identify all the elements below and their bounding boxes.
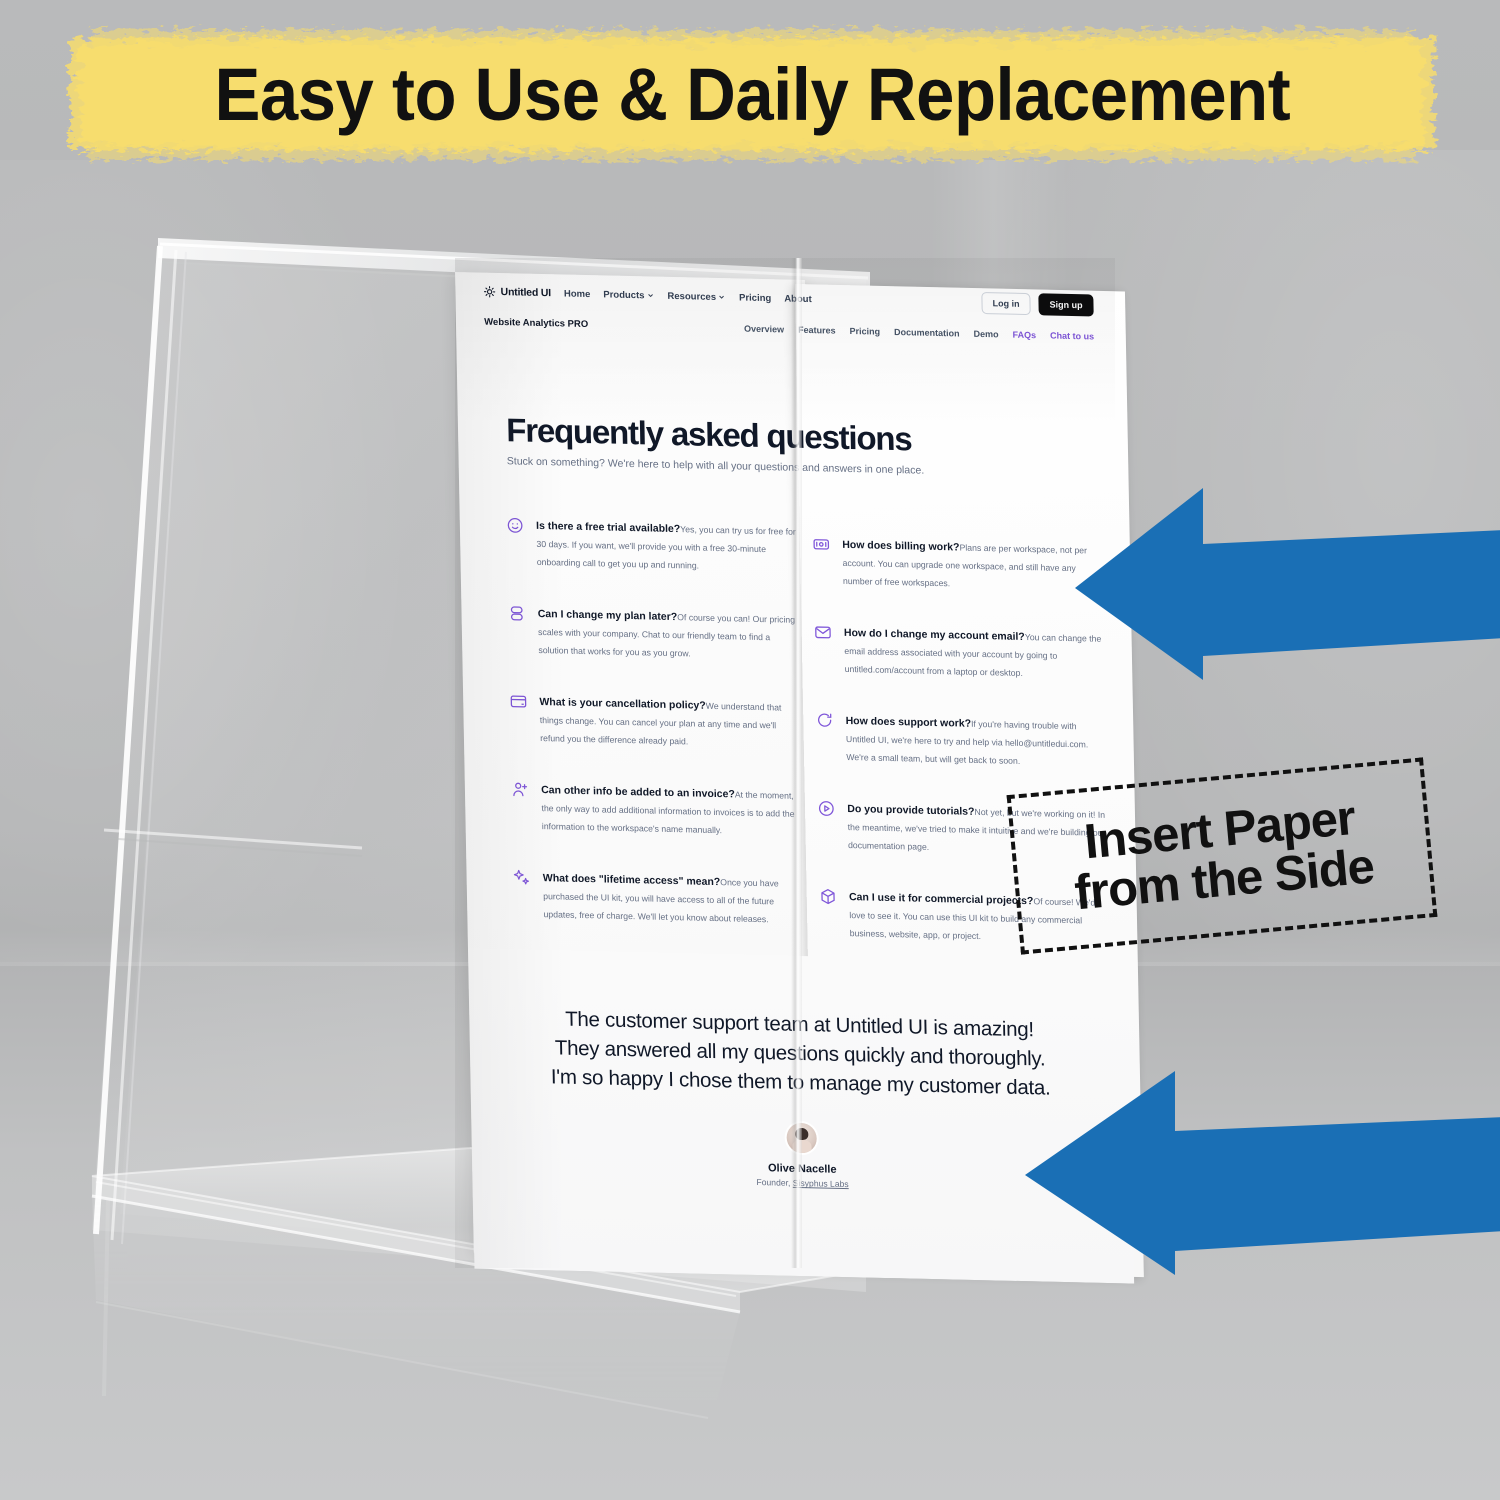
chevron-down-icon	[646, 291, 654, 299]
header-banner: Easy to Use & Daily Replacement	[62, 24, 1442, 164]
nav-link-resources[interactable]: Resources	[667, 290, 726, 302]
testimonial-company-link[interactable]: Sisyphus Labs	[793, 1178, 849, 1189]
faq-item[interactable]: What does "lifetime access" mean?Once yo…	[513, 867, 804, 928]
credit-card-icon	[509, 692, 527, 710]
money-icon	[812, 535, 830, 553]
faq-question: How does billing work?	[842, 539, 959, 554]
faq-item[interactable]: How does billing work?Plans are per work…	[812, 534, 1103, 595]
sparkles-icon	[513, 868, 531, 886]
avatar	[786, 1123, 817, 1154]
mail-icon	[814, 623, 832, 641]
faq-question: Do you provide tutorials?	[847, 803, 974, 818]
faq-item[interactable]: Is there a free trial available?Yes, you…	[506, 515, 797, 576]
faq-item[interactable]: How do I change my account email?You can…	[814, 622, 1105, 683]
banner-title: Easy to Use & Daily Replacement	[214, 52, 1290, 137]
faq-question: Is there a free trial available?	[536, 520, 680, 535]
layers-icon	[508, 604, 526, 622]
faq-item[interactable]: Can other info be added to an invoice?At…	[511, 779, 802, 840]
subnav-link-documentation[interactable]: Documentation	[894, 326, 960, 337]
faq-item[interactable]: Can I change my plan later?Of course you…	[508, 603, 799, 664]
log-in-button[interactable]: Log in	[981, 292, 1030, 315]
faq-question: Can I use it for commercial projects?	[849, 891, 1034, 907]
nav-link-about[interactable]: About	[784, 293, 812, 305]
user-plus-icon	[511, 780, 529, 798]
subnav-link-features[interactable]: Features	[798, 324, 836, 335]
arrow-pointing-to-paper-top	[1075, 470, 1500, 680]
arrow-pointing-to-paper-bottom	[1025, 1055, 1500, 1275]
faq-item[interactable]: How does support work?If you're having t…	[815, 710, 1106, 771]
brand-logo[interactable]: Untitled UI	[484, 286, 552, 300]
chevron-down-icon	[718, 293, 726, 301]
faq-question: How do I change my account email?	[844, 627, 1025, 643]
inserted-paper-faq-page: Untitled UI Home Products Resources Pric…	[455, 258, 1115, 1268]
page-subtitle: Stuck on something? We're here to help w…	[507, 455, 925, 476]
subnav-link-demo[interactable]: Demo	[973, 328, 998, 339]
faq-item[interactable]: What is your cancellation policy?We unde…	[509, 691, 800, 752]
site-navbar: Untitled UI Home Products Resources Pric…	[483, 281, 1093, 317]
faq-question: Can other info be added to an invoice?	[541, 784, 735, 800]
faq-question: What does "lifetime access" mean?	[543, 872, 721, 888]
faq-question: How does support work?	[846, 715, 972, 730]
message-refresh-icon	[815, 711, 833, 729]
smiley-icon	[506, 516, 524, 534]
faq-question: What is your cancellation policy?	[539, 696, 705, 712]
nav-link-pricing[interactable]: Pricing	[739, 292, 771, 304]
product-subnav: Website Analytics PRO Overview Features …	[484, 317, 1094, 342]
page-title: Frequently asked questions	[506, 411, 912, 458]
nav-link-products[interactable]: Products	[603, 289, 654, 301]
brand-name: Untitled UI	[501, 286, 552, 299]
sun-logo-icon	[484, 286, 496, 298]
subnav-link-pricing[interactable]: Pricing	[849, 325, 880, 336]
subnav-link-faqs[interactable]: FAQs	[1013, 329, 1037, 340]
play-circle-icon	[817, 799, 835, 817]
nav-link-home[interactable]: Home	[564, 288, 591, 300]
subnav-link-chat-to-us[interactable]: Chat to us	[1050, 330, 1094, 341]
cube-icon	[819, 887, 837, 905]
sign-up-button[interactable]: Sign up	[1038, 293, 1093, 316]
faq-question: Can I change my plan later?	[538, 608, 678, 623]
subnav-link-overview[interactable]: Overview	[744, 323, 784, 334]
product-name: Website Analytics PRO	[484, 317, 588, 330]
